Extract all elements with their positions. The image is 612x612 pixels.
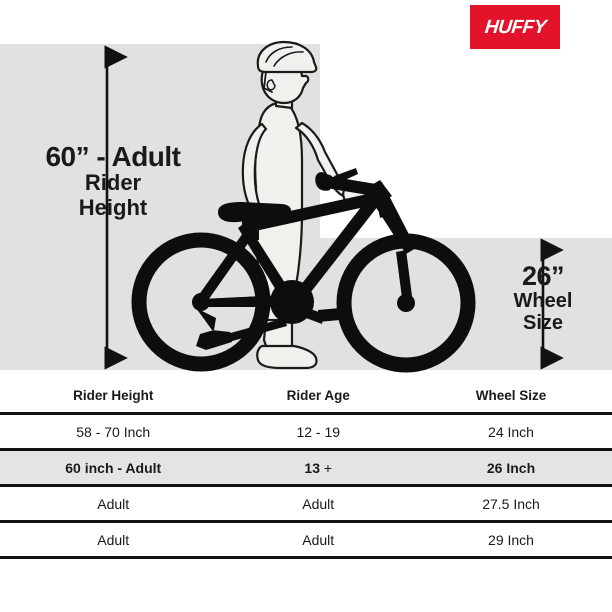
wheel-size-annotation: 26” Wheel Size bbox=[487, 262, 599, 334]
cell-rider-age: 12 - 19 bbox=[226, 414, 410, 450]
cell-wheel-size: 24 Inch bbox=[410, 414, 612, 450]
rider-height-label-line1: Rider bbox=[18, 171, 208, 196]
cell-rider-age-value: 13 bbox=[304, 460, 320, 476]
cell-rider-age: Adult bbox=[226, 486, 410, 522]
size-chart-page: HUFFY bbox=[0, 0, 612, 612]
table-row: Adult Adult 27.5 Inch bbox=[0, 486, 612, 522]
size-spec-table: Rider Height Rider Age Wheel Size 58 - 7… bbox=[0, 378, 612, 559]
cell-rider-height: 60 inch - Adult bbox=[0, 450, 226, 486]
hero-illustration: 60” - Adult Rider Height 26” Wheel Size bbox=[0, 0, 612, 375]
cell-rider-age-plus: + bbox=[320, 460, 332, 476]
rider-height-measure: 60” - Adult bbox=[18, 142, 208, 171]
cell-rider-age: Adult bbox=[226, 522, 410, 558]
cell-wheel-size: 27.5 Inch bbox=[410, 486, 612, 522]
cell-wheel-size: 29 Inch bbox=[410, 522, 612, 558]
table-header-row: Rider Height Rider Age Wheel Size bbox=[0, 378, 612, 414]
table-row: Adult Adult 29 Inch bbox=[0, 522, 612, 558]
cell-wheel-size: 26 Inch bbox=[410, 450, 612, 486]
cell-rider-height: 58 - 70 Inch bbox=[0, 414, 226, 450]
table-row: 58 - 70 Inch 12 - 19 24 Inch bbox=[0, 414, 612, 450]
rider-height-label-line2: Height bbox=[18, 196, 208, 221]
cell-rider-age: 13 + bbox=[226, 450, 410, 486]
column-header-rider-height: Rider Height bbox=[0, 378, 226, 414]
cell-rider-height: Adult bbox=[0, 522, 226, 558]
wheel-size-label-line2: Size bbox=[487, 312, 599, 334]
wheel-size-label-line1: Wheel bbox=[487, 290, 599, 312]
wheel-size-measure: 26” bbox=[487, 262, 599, 290]
column-header-wheel-size: Wheel Size bbox=[410, 378, 612, 414]
column-header-rider-age: Rider Age bbox=[226, 378, 410, 414]
rider-height-annotation: 60” - Adult Rider Height bbox=[18, 142, 208, 221]
table-row-highlighted: 60 inch - Adult 13 + 26 Inch bbox=[0, 450, 612, 486]
cell-rider-height: Adult bbox=[0, 486, 226, 522]
